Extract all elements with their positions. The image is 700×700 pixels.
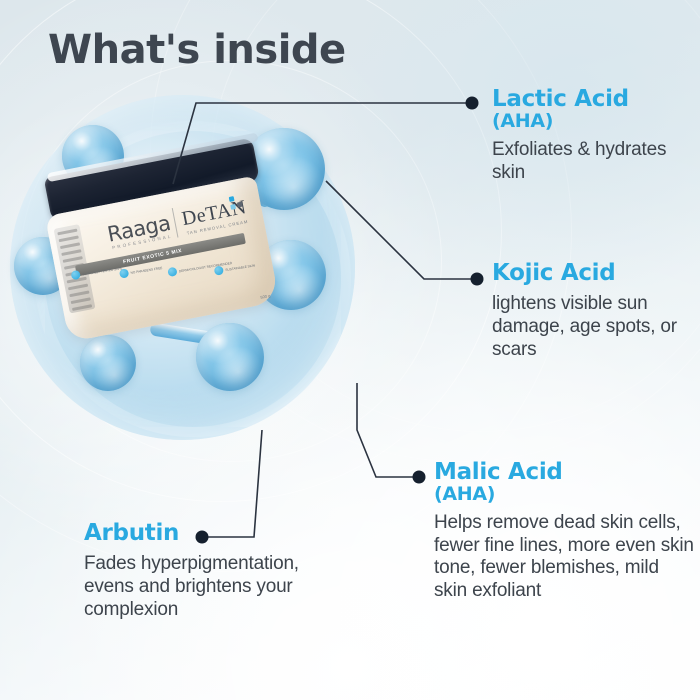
label-badge: NO PARABENS FREE	[119, 263, 163, 279]
infographic-canvas: What's inside Raaga PROFESSIONAL	[0, 0, 700, 700]
callout-title: Kojic Acid	[492, 262, 692, 286]
label-divider	[172, 208, 179, 238]
ingredient-bubble	[196, 323, 264, 391]
label-square-icon	[230, 204, 236, 210]
callout-title: Arbutin	[84, 522, 334, 546]
badge-label: SUSTAINABLE SKIN	[225, 263, 255, 272]
callout-lactic-acid: Lactic Acid (AHA) Exfoliates & hydrates …	[492, 88, 697, 184]
badge-icon	[119, 268, 129, 278]
callout-arbutin: Arbutin Fades hyperpigmentation, evens a…	[84, 522, 334, 621]
label-square-icon	[237, 202, 243, 208]
callout-title: Malic Acid	[434, 461, 696, 485]
callout-malic-acid: Malic Acid (AHA) Helps remove dead skin …	[434, 461, 696, 603]
badge-icon	[214, 265, 224, 275]
callout-description: Fades hyperpigmentation, evens and brigh…	[84, 553, 334, 621]
callout-qualifier: (AHA)	[492, 112, 697, 132]
label-square-icon	[229, 196, 235, 202]
callout-description: lightens visible sun damage, age spots, …	[492, 293, 692, 361]
ingredient-bubble	[80, 335, 136, 391]
callout-title: Lactic Acid	[492, 88, 697, 112]
callout-description: Helps remove dead skin cells, fewer fine…	[434, 512, 696, 603]
callout-qualifier: (AHA)	[434, 485, 696, 505]
net-volume: 500 g	[260, 293, 271, 300]
badge-icon	[71, 270, 81, 280]
callout-kojic-acid: Kojic Acid lightens visible sun damage, …	[492, 262, 692, 361]
badge-label: NO PARABENS FREE	[130, 265, 162, 274]
badge-icon	[167, 267, 177, 277]
product-illustration: Raaga PROFESSIONAL DeTAN TAN REMOVAL CRE…	[0, 85, 420, 505]
callout-description: Exfoliates & hydrates skin	[492, 139, 697, 185]
page-title: What's inside	[48, 27, 346, 73]
